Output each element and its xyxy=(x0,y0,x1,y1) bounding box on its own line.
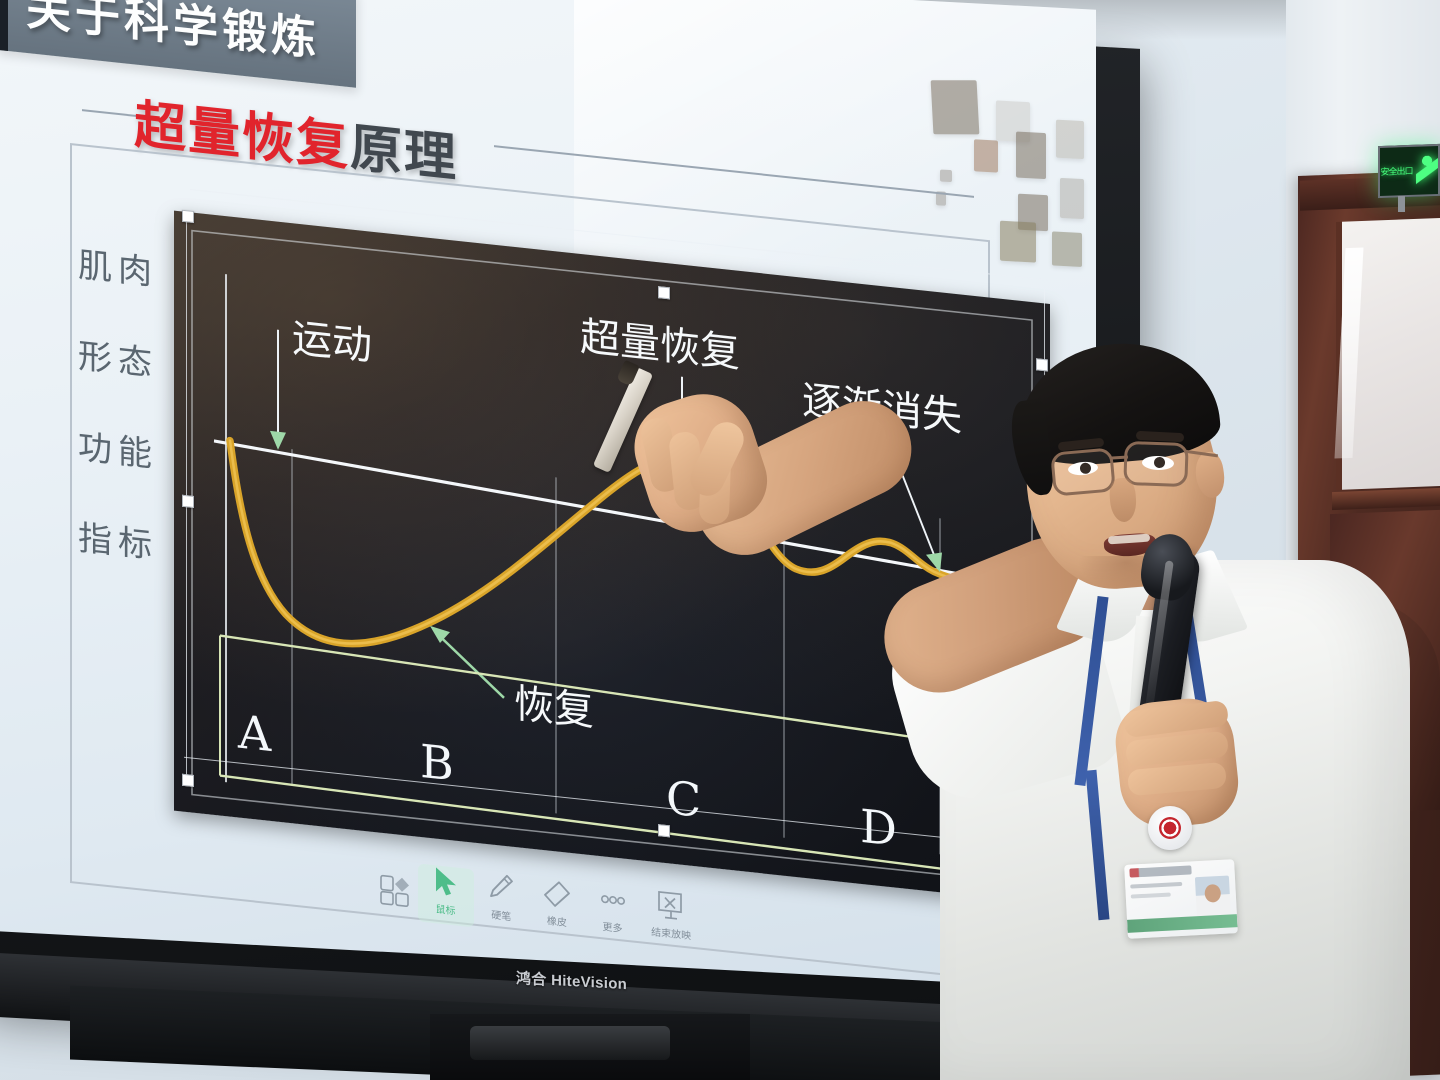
toolbar-more-label: 更多 xyxy=(603,918,623,935)
decorative-rule-right xyxy=(494,145,974,198)
supercompensation-chart[interactable]: 运动 恢复 超量恢复 逐渐消失 xyxy=(174,211,1050,904)
exit-slideshow-icon xyxy=(654,886,688,924)
axis-caption-word: 功能 xyxy=(78,419,164,477)
exit-sign-mount xyxy=(1398,196,1405,212)
screenshot-root: 安全出口 关于科学锻炼 超量恢复原理 xyxy=(0,0,1440,1080)
cursor-icon xyxy=(431,865,461,900)
toolbar-apps-button[interactable] xyxy=(372,872,418,914)
selection-handle-bottom-left[interactable] xyxy=(182,774,194,787)
more-dots-icon xyxy=(596,882,630,918)
selection-handle-mid-left[interactable] xyxy=(182,495,194,508)
toolbar-cursor-button[interactable]: 鼠标 xyxy=(418,863,474,919)
toolbar-eraser-button[interactable]: 橡皮 xyxy=(529,875,585,931)
selection-handle-bottom-center[interactable] xyxy=(658,824,670,837)
door-lower-panel xyxy=(1330,510,1440,814)
annotation-arrow-exercise xyxy=(270,431,286,451)
display-stand-bar xyxy=(470,1026,670,1060)
selection-handle-top-right[interactable] xyxy=(1036,358,1048,371)
running-man-icon xyxy=(1416,155,1438,186)
phase-label-a: A xyxy=(237,704,272,762)
toolbar-eraser-label: 橡皮 xyxy=(547,912,567,929)
slide-header-label: 关于科学锻炼 xyxy=(26,0,320,67)
chart-vector-layer: 运动 恢复 超量恢复 逐渐消失 xyxy=(174,211,1050,904)
slide-canvas[interactable]: 关于科学锻炼 超量恢复原理 肌肉 形态 功能 指标 xyxy=(0,0,1074,959)
axis-caption-word: 形态 xyxy=(78,328,164,386)
axis-caption-word: 肌肉 xyxy=(78,237,164,295)
toolbar-cursor-label: 鼠标 xyxy=(436,900,456,917)
selection-handle-top-left[interactable] xyxy=(182,210,194,223)
interactive-display-screen[interactable]: 关于科学锻炼 超量恢复原理 肌肉 形态 功能 指标 xyxy=(0,0,1096,990)
exit-sign: 安全出口 xyxy=(1378,144,1440,198)
selection-border-right xyxy=(1044,289,1045,855)
pen-icon xyxy=(486,871,516,906)
annotation-line-recovery xyxy=(436,633,504,698)
slide-header-bar: 关于科学锻炼 xyxy=(0,0,356,88)
selection-handle-top-center[interactable] xyxy=(658,286,670,299)
chart-baseline xyxy=(214,441,1020,585)
eraser-icon xyxy=(541,876,573,911)
decorative-rule-left xyxy=(82,109,142,117)
toolbar-more-button[interactable]: 更多 xyxy=(585,881,641,937)
axis-caption-word: 指标 xyxy=(78,510,164,568)
annotation-label-supercomp: 超量恢复 xyxy=(580,314,740,377)
annotation-label-decay: 逐渐消失 xyxy=(802,378,962,441)
apps-grid-icon xyxy=(378,872,412,910)
annotation-arrow-return xyxy=(989,588,1003,605)
annotation-label-exercise: 运动 xyxy=(292,315,372,369)
toolbar-pen-button[interactable]: 硬笔 xyxy=(473,869,529,925)
phase-band-top xyxy=(220,636,1020,753)
toolbar-pen-label: 硬笔 xyxy=(491,906,511,923)
annotation-arrow-recovery xyxy=(430,626,450,644)
chart-y-axis-caption: 肌肉 形态 功能 指标 xyxy=(78,237,164,568)
phase-label-c: C xyxy=(666,770,701,828)
toolbar-exit-slideshow-button[interactable]: 结束放映 xyxy=(640,885,702,944)
header-accent-block xyxy=(0,0,8,51)
exit-sign-label: 安全出口 xyxy=(1380,166,1412,176)
